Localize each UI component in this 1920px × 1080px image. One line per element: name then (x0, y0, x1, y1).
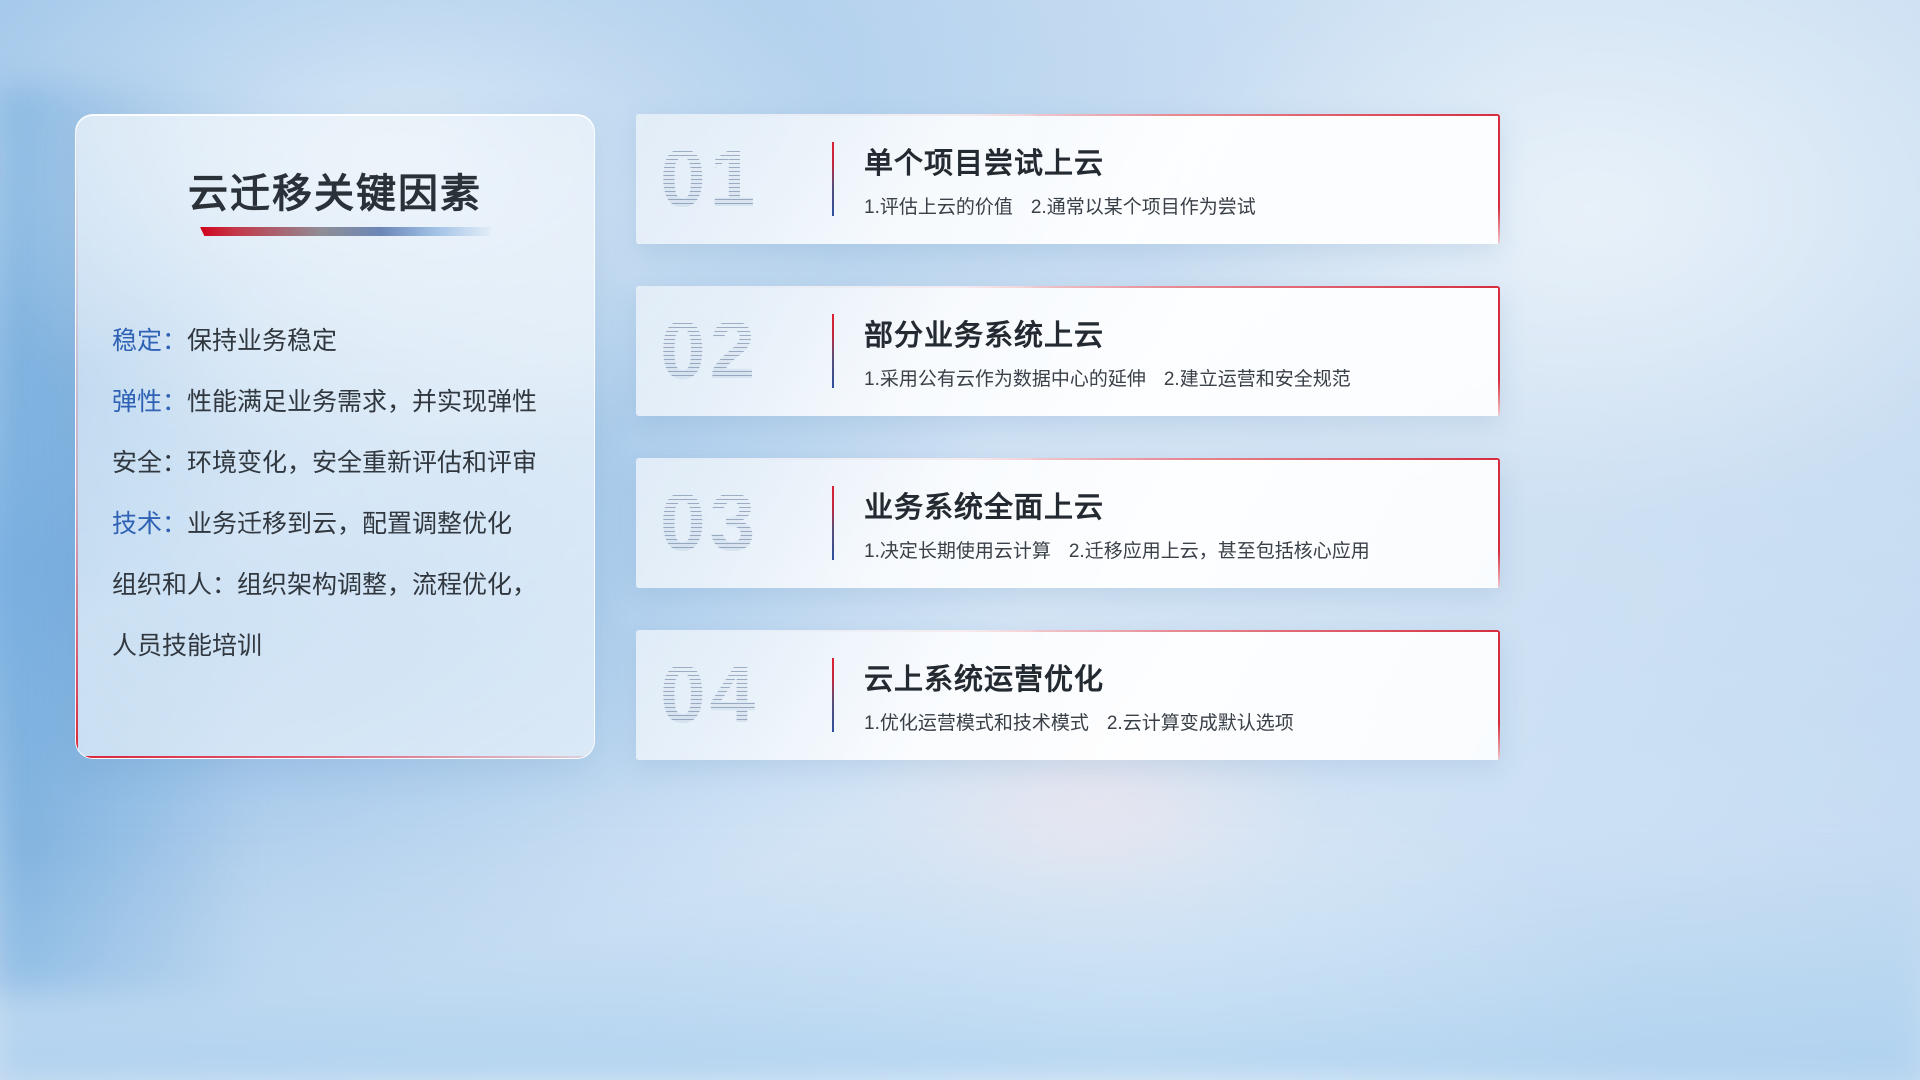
step-description-part-1: 1.采用公有云作为数据中心的延伸 (864, 369, 1146, 390)
step-description: 1.评估上云的价值2.通常以某个项目作为尝试 (864, 192, 1256, 219)
step-number-02: 02 (660, 310, 759, 392)
factor-label: 技术： (112, 510, 187, 538)
key-factors-list: 稳定：保持业务稳定 弹性：性能满足业务需求，并实现弹性 安全：环境变化，安全重新… (112, 311, 566, 677)
factor-label: 组织和人： (112, 571, 237, 599)
step-number-01: 01 (660, 138, 759, 220)
factor-text: 组织架构调整，流程优化， (237, 571, 537, 599)
factor-label: 安全： (112, 449, 187, 477)
step-title: 部分业务系统上云 (864, 312, 1104, 354)
step-description-part-2: 2.云计算变成默认选项 (1107, 713, 1294, 734)
step-card-02[interactable]: 02 部分业务系统上云 1.采用公有云作为数据中心的延伸2.建立运营和安全规范 (636, 286, 1500, 416)
list-item: 安全：环境变化，安全重新评估和评审 (112, 433, 566, 494)
step-divider-bar (832, 314, 834, 388)
step-divider-bar (832, 658, 834, 732)
step-description-part-2: 2.通常以某个项目作为尝试 (1031, 197, 1256, 218)
step-title: 业务系统全面上云 (864, 484, 1104, 526)
step-description-part-2: 2.迁移应用上云，甚至包括核心应用 (1069, 541, 1370, 562)
factor-text: 业务迁移到云，配置调整优化 (187, 510, 512, 538)
step-description: 1.优化运营模式和技术模式2.云计算变成默认选项 (864, 708, 1294, 735)
step-number-04: 04 (660, 654, 759, 736)
step-title: 云上系统运营优化 (864, 656, 1104, 698)
title-underline-gradient (200, 227, 492, 236)
factor-text: 环境变化，安全重新评估和评审 (187, 449, 537, 477)
factor-text: 人员技能培训 (112, 632, 262, 660)
step-description-part-1: 1.评估上云的价值 (864, 197, 1013, 218)
list-item: 技术：业务迁移到云，配置调整优化 (112, 494, 566, 555)
list-item: 弹性：性能满足业务需求，并实现弹性 (112, 372, 566, 433)
factor-label: 弹性： (112, 388, 187, 416)
factor-text: 性能满足业务需求，并实现弹性 (187, 388, 537, 416)
step-card-01[interactable]: 01 单个项目尝试上云 1.评估上云的价值2.通常以某个项目作为尝试 (636, 114, 1500, 244)
page-title: 云迁移关键因素 (76, 161, 594, 219)
slide-stage: 云迁移关键因素 稳定：保持业务稳定 弹性：性能满足业务需求，并实现弹性 安全：环… (0, 0, 1920, 1080)
factor-label: 稳定： (112, 327, 187, 355)
step-divider-bar (832, 486, 834, 560)
step-description-part-1: 1.优化运营模式和技术模式 (864, 713, 1089, 734)
step-title: 单个项目尝试上云 (864, 140, 1104, 182)
key-factors-card: 云迁移关键因素 稳定：保持业务稳定 弹性：性能满足业务需求，并实现弹性 安全：环… (75, 114, 595, 759)
step-description-part-2: 2.建立运营和安全规范 (1164, 369, 1351, 390)
step-divider-bar (832, 142, 834, 216)
step-card-04[interactable]: 04 云上系统运营优化 1.优化运营模式和技术模式2.云计算变成默认选项 (636, 630, 1500, 760)
factor-text: 保持业务稳定 (187, 327, 337, 355)
step-description: 1.决定长期使用云计算2.迁移应用上云，甚至包括核心应用 (864, 536, 1370, 563)
step-description: 1.采用公有云作为数据中心的延伸2.建立运营和安全规范 (864, 364, 1351, 391)
step-number-03: 03 (660, 482, 759, 564)
list-item: 组织和人：组织架构调整，流程优化， (112, 555, 566, 616)
list-item: 稳定：保持业务稳定 (112, 311, 566, 372)
step-description-part-1: 1.决定长期使用云计算 (864, 541, 1051, 562)
list-item: 人员技能培训 (112, 616, 566, 677)
step-card-03[interactable]: 03 业务系统全面上云 1.决定长期使用云计算2.迁移应用上云，甚至包括核心应用 (636, 458, 1500, 588)
